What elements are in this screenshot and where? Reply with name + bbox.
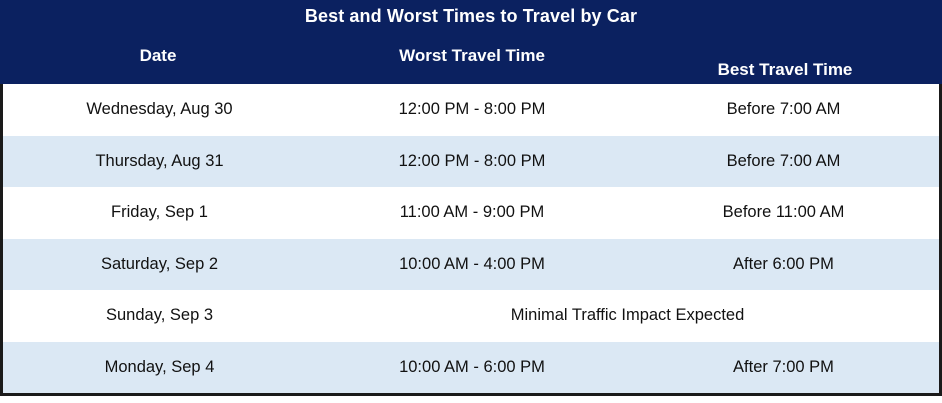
table-row: Sunday, Sep 3Minimal Traffic Impact Expe… [3,290,939,342]
cell-best-travel-time: After 6:00 PM [628,255,939,274]
cell-date: Thursday, Aug 31 [3,152,316,171]
cell-date: Wednesday, Aug 30 [3,100,316,119]
travel-times-table: Best and Worst Times to Travel by Car Da… [0,0,942,403]
cell-best-travel-time: After 7:00 PM [628,358,939,377]
table-row: Monday, Sep 410:00 AM - 6:00 PMAfter 7:0… [3,342,939,394]
table-header: Best and Worst Times to Travel by Car Da… [0,0,942,84]
cell-best-travel-time: Before 7:00 AM [628,100,939,119]
cell-best-travel-time: Before 11:00 AM [628,203,939,222]
cell-worst-travel-time: 10:00 AM - 4:00 PM [316,255,628,274]
cell-worst-travel-time: 11:00 AM - 9:00 PM [316,203,628,222]
table-row: Friday, Sep 111:00 AM - 9:00 PMBefore 11… [3,187,939,239]
table-row: Thursday, Aug 3112:00 PM - 8:00 PMBefore… [3,136,939,188]
cell-worst-travel-time: 12:00 PM - 8:00 PM [316,100,628,119]
table-body: Wednesday, Aug 3012:00 PM - 8:00 PMBefor… [0,84,942,396]
column-header-date: Date [0,46,316,66]
table-row: Wednesday, Aug 3012:00 PM - 8:00 PMBefor… [3,84,939,136]
column-header-best-travel-time: Best Travel Time [628,60,942,80]
column-header-worst-travel-time: Worst Travel Time [316,46,628,66]
cell-worst-travel-time: 12:00 PM - 8:00 PM [316,152,628,171]
cell-date: Friday, Sep 1 [3,203,316,222]
cell-merged-note: Minimal Traffic Impact Expected [316,306,939,325]
table-row: Saturday, Sep 210:00 AM - 4:00 PMAfter 6… [3,239,939,291]
cell-date: Sunday, Sep 3 [3,306,316,325]
cell-date: Saturday, Sep 2 [3,255,316,274]
cell-worst-travel-time: 10:00 AM - 6:00 PM [316,358,628,377]
table-title: Best and Worst Times to Travel by Car [0,6,942,27]
cell-date: Monday, Sep 4 [3,358,316,377]
cell-best-travel-time: Before 7:00 AM [628,152,939,171]
